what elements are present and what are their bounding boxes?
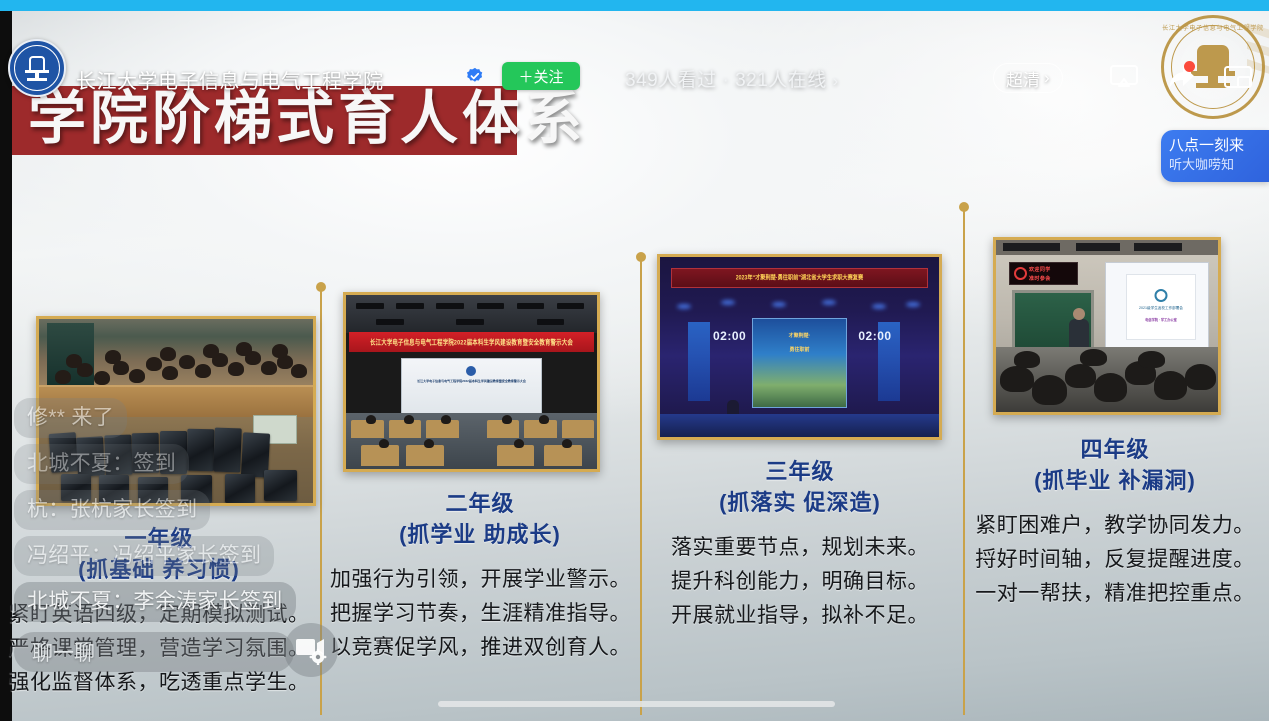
- column-3-grade-subtitle: (抓落实 促深造): [650, 487, 950, 519]
- column-3-stage-line-1: 才聚荆楚·: [753, 332, 846, 339]
- chat-input-placeholder: 聊一聊: [32, 637, 95, 667]
- column-2-line-2: 把握学习节奏，生涯精准指导。: [330, 597, 630, 631]
- column-4-photo: 欢迎同学 准时参会 2021级学生返校工作部署会 电信学院 · 学工办公室: [993, 237, 1221, 415]
- column-3-line-2: 提升科创能力，明确目标。: [650, 565, 950, 599]
- pip-button[interactable]: [1221, 61, 1255, 95]
- host-avatar[interactable]: [8, 39, 66, 97]
- live-settings-button[interactable]: [284, 623, 338, 677]
- column-3-line-3: 开展就业指导，拟补不足。: [650, 599, 950, 633]
- column-2-screen-title: 长江大学电子信息与电气工程学院2022届本科生学风建设教育暨安全教育警示大会: [402, 379, 541, 383]
- bottom-progress-scrollbar[interactable]: [0, 701, 1269, 707]
- column-4-text-block: 四年级 (抓毕业 补漏洞) 紧盯困难户，教学协同发力。 捋好时间轴，反复提醒进度…: [965, 435, 1265, 611]
- cast-button[interactable]: [1107, 61, 1141, 95]
- promo-line-2: 听大咖唠知: [1169, 156, 1261, 174]
- share-button[interactable]: [1163, 61, 1197, 95]
- column-2-text-block: 二年级 (抓学业 助成长) 加强行为引领，开展学业警示。 把握学习节奏，生涯精准…: [330, 489, 630, 665]
- follow-button[interactable]: ＋关注: [502, 62, 580, 90]
- column-4-led-line-1: 欢迎同学: [1029, 266, 1051, 273]
- column-4-ppt-subtitle: 电信学院 · 学工办公室: [1127, 317, 1195, 322]
- quality-label: 超清: [1006, 66, 1040, 91]
- column-4-line-3: 一对一帮扶，精准把控重点。: [965, 577, 1265, 611]
- column-3-photo-banner: 2023年“才聚荆楚·勇往职前”湖北省大学生求职大赛复赛: [671, 268, 928, 288]
- follow-button-label: ＋关注: [518, 66, 563, 87]
- column-3-timer-left: 02:00: [713, 329, 746, 343]
- university-logo-icon: [24, 55, 50, 81]
- column-4-led-line-2: 准时参会: [1029, 275, 1051, 282]
- chat-message: 冯绍平：冯绍平家长签到: [14, 536, 274, 576]
- column-4-ppt-title: 2021级学生返校工作部署会: [1127, 306, 1195, 311]
- column-4-grade-title: 四年级: [965, 435, 1265, 465]
- verified-badge-icon: [466, 67, 484, 85]
- column-2-photo-banner: 长江大学电子信息与电气工程学院2022届本科生学风建设教育暨安全教育警示大会: [349, 332, 595, 353]
- viewer-count-chevron-icon: ›: [833, 73, 839, 90]
- promo-card[interactable]: 八点一刻来 听大咖唠知: [1161, 130, 1269, 182]
- column-2-grade-subtitle: (抓学业 助成长): [330, 519, 630, 551]
- column-2-photo-banner-text: 长江大学电子信息与电气工程学院2022届本科生学风建设教育暨安全教育警示大会: [370, 337, 573, 347]
- column-3-photo: 2023年“才聚荆楚·勇往职前”湖北省大学生求职大赛复赛 才聚荆楚· 勇往职前 …: [657, 254, 942, 440]
- scrollbar-thumb[interactable]: [438, 701, 835, 707]
- share-notification-dot: [1184, 61, 1195, 72]
- chat-input[interactable]: 聊一聊: [14, 632, 294, 672]
- column-3-stage-line-2: 勇往职前: [753, 346, 846, 353]
- chat-message: 北城不夏：签到: [14, 444, 189, 484]
- column-4-line-2: 捋好时间轴，反复提醒进度。: [965, 543, 1265, 577]
- quality-selector-button[interactable]: 超清 ›: [993, 63, 1063, 93]
- column-4-grade-subtitle: (抓毕业 补漏洞): [965, 465, 1265, 497]
- chat-message: 杭：张杭家长签到: [14, 490, 210, 530]
- column-2-grade-title: 二年级: [330, 489, 630, 519]
- column-2-line-1: 加强行为引领，开展学业警示。: [330, 563, 630, 597]
- chevron-right-icon: ›: [1044, 68, 1050, 88]
- column-2-line-3: 以竞赛促学风，推进双创育人。: [330, 631, 630, 665]
- column-3-timer-right: 02:00: [858, 329, 891, 343]
- column-2-photo: 长江大学电子信息与电气工程学院2022届本科生学风建设教育暨安全教育警示大会 长…: [343, 292, 600, 472]
- slide-title-banner: 学院阶梯式育人体系: [12, 86, 517, 155]
- live-header: 长江大学电子信息与电气工程学院 ＋关注 349人看过 · 321人在线› 超清 …: [0, 11, 1269, 95]
- viewer-count[interactable]: 349人看过 · 321人在线›: [625, 65, 839, 92]
- timeline-stem-2: [640, 260, 642, 715]
- picture-in-picture-icon: [1221, 61, 1255, 95]
- live-stream-screen: 学院阶梯式育人体系: [0, 0, 1269, 721]
- top-status-strip: [0, 0, 1269, 11]
- column-3-text-block: 三年级 (抓落实 促深造) 落实重要节点，规划未来。 提升科创能力，明确目标。 …: [650, 457, 950, 633]
- column-3-photo-banner-text: 2023年“才聚荆楚·勇往职前”湖北省大学生求职大赛复赛: [736, 273, 863, 281]
- viewer-count-text: 349人看过 · 321人在线: [625, 70, 827, 91]
- host-name[interactable]: 长江大学电子信息与电气工程学院: [76, 65, 384, 94]
- chat-message: 北城不夏：李余涛家长签到: [14, 582, 296, 622]
- live-settings-icon: [295, 635, 327, 665]
- cast-icon: [1107, 61, 1141, 95]
- promo-line-1: 八点一刻来: [1169, 136, 1261, 156]
- column-4-line-1: 紧盯困难户，教学协同发力。: [965, 509, 1265, 543]
- chat-message: 修** 来了: [14, 398, 127, 438]
- column-3-line-1: 落实重要节点，规划未来。: [650, 531, 950, 565]
- column-3-grade-title: 三年级: [650, 457, 950, 487]
